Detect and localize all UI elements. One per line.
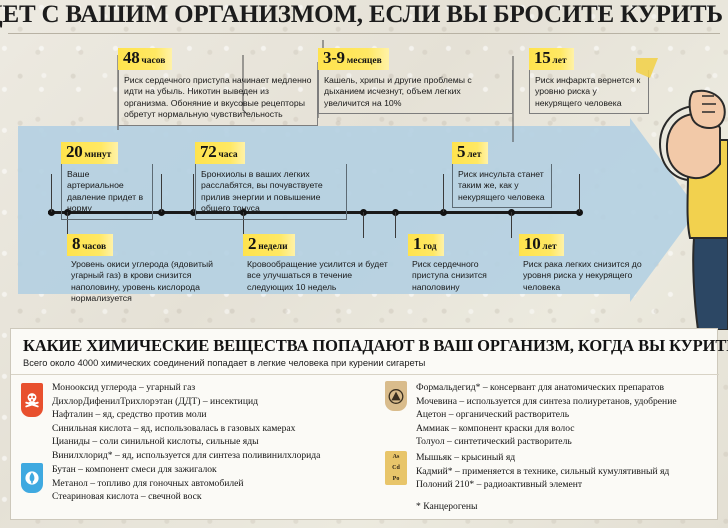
chemicals-panel: КАКИЕ ХИМИЧЕСКИЕ ВЕЩЕСТВА ПОПАДАЮТ В ВАШ… [10, 328, 718, 520]
card-badge: 15лет [529, 48, 574, 70]
card-number: 3-9 [323, 48, 345, 67]
chemical-list: Мышьяк – крысиный яд Кадмий* – применяет… [416, 451, 669, 492]
chemical-group-poison: Монооксид углерода – угарный газ ДихлорД… [21, 381, 320, 463]
timeline-connector [51, 174, 52, 212]
chemical-list: Бутан – компонент смеси для зажигалок Ме… [52, 463, 244, 504]
card-badge: 2недели [243, 234, 295, 256]
card-5-years: 5лет Риск инсульта станет таким же, как … [452, 142, 552, 208]
card-2-weeks: 2недели Кровообращение усилится и будет … [243, 234, 395, 293]
card-unit: часов [82, 242, 106, 252]
irritant-icon [385, 381, 407, 411]
timeline-connector [395, 212, 396, 238]
periodic-elements-icon: As Cd Po [385, 451, 407, 485]
chemical-list: Монооксид углерода – угарный газ ДихлорД… [52, 381, 320, 463]
card-badge: 48часов [118, 48, 172, 70]
card-text: Кашель, хрипы и другие проблемы с дыхани… [324, 72, 507, 109]
card-number: 20 [66, 142, 82, 161]
card-box: Бронхиолы в ваших легких расслабятся, вы… [195, 164, 347, 220]
timeline-connector [161, 174, 162, 212]
chemical-line: Полоний 210* – радиоактивный элемент [416, 478, 669, 492]
card-3-9-months: 3-9месяцев Кашель, хрипы и другие пробле… [318, 48, 513, 114]
element-symbol: As [393, 454, 400, 460]
chemical-line: Бутан – компонент смеси для зажигалок [52, 463, 244, 477]
card-15-years: 15лет Риск инфаркта вернется к уровню ри… [529, 48, 649, 114]
element-symbol: Po [393, 476, 400, 482]
flexing-person-illustration [636, 58, 728, 330]
chemical-line: Нафталин – яд, средство против моли [52, 408, 320, 422]
card-unit: год [423, 242, 436, 252]
card-number: 1 [413, 234, 421, 253]
panel-subtitle: Всего около 4000 химических соединений п… [23, 358, 425, 368]
card-8-hours: 8часов Уровень окиси углерода (ядовитый … [67, 234, 227, 305]
chemical-line: Толуол – синтетический растворитель [416, 435, 677, 449]
card-number: 72 [200, 142, 216, 161]
card-20-minutes: 20минут Ваше артериальное давление приде… [61, 142, 153, 220]
header-divider [8, 33, 720, 34]
card-number: 5 [457, 142, 465, 161]
card-number: 8 [72, 234, 80, 253]
card-unit: часа [218, 150, 237, 160]
card-text: Риск инфаркта вернется к уровню риска у … [535, 72, 643, 109]
card-box: Кашель, хрипы и другие проблемы с дыхани… [318, 70, 513, 114]
chemical-line: Мочевина – используется для синтеза поли… [416, 395, 677, 409]
card-text: Риск сердечного приступа начинает медлен… [124, 72, 312, 121]
card-unit: лет [542, 242, 556, 252]
chemical-group-elements: As Cd Po Мышьяк – крысиный яд Кадмий* – … [385, 451, 669, 492]
card-unit: минут [84, 150, 111, 160]
chemical-line: Винилхлорид* – яд, используется для синт… [52, 449, 320, 463]
skull-crossbones-icon [21, 383, 43, 417]
card-text: Бронхиолы в ваших легких расслабятся, вы… [201, 166, 341, 215]
card-72-hours: 72часа Бронхиолы в ваших легких расслабя… [195, 142, 347, 220]
card-unit: часов [141, 56, 165, 66]
panel-divider [11, 374, 719, 375]
card-text: Риск инсульта станет таким же, как у нек… [458, 166, 546, 203]
card-badge: 3-9месяцев [318, 48, 389, 70]
panel-title: КАКИЕ ХИМИЧЕСКИЕ ВЕЩЕСТВА ПОПАДАЮТ В ВАШ… [23, 336, 728, 356]
footnote-carcinogens: * Канцерогены [416, 501, 478, 512]
chemical-line: ДихлорДифенилТрихлорэтан (ДДТ) – инсекти… [52, 395, 320, 409]
card-badge: 8часов [67, 234, 113, 256]
timeline-connector [193, 174, 194, 212]
chemical-line: Кадмий* – применяется в технике, сильный… [416, 465, 669, 479]
card-text: Кровообращение усилится и будет все улуч… [243, 256, 395, 293]
card-unit: лет [467, 150, 481, 160]
card-unit: недели [258, 242, 287, 252]
chemical-line: Монооксид углерода – угарный газ [52, 381, 320, 395]
card-box: Ваше артериальное давление придет в норм… [61, 164, 153, 220]
chemical-line: Метанол – топливо для гоночных автомобил… [52, 477, 244, 491]
card-badge: 10лет [519, 234, 564, 256]
chemical-group-irritant: Формальдегид* – консервант для анатомиче… [385, 381, 677, 449]
card-number: 15 [534, 48, 550, 67]
card-box: Риск инсульта станет таким же, как у нек… [452, 164, 552, 208]
card-unit: месяцев [347, 56, 382, 66]
chemical-line: Ацетон – органический растворитель [416, 408, 677, 422]
card-text: Риск сердечного приступа снизится наполо… [408, 256, 512, 293]
card-text: Уровень окиси углерода (ядовитый угарный… [67, 256, 227, 305]
timeline-connector [443, 174, 444, 212]
chemical-line: Мышьяк – крысиный яд [416, 451, 669, 465]
chemical-list: Формальдегид* – консервант для анатомиче… [416, 381, 677, 449]
card-unit: лет [552, 56, 566, 66]
card-box: Риск инфаркта вернется к уровню риска у … [529, 70, 649, 114]
card-number: 10 [524, 234, 540, 253]
card-1-year: 1год Риск сердечного приступа снизится н… [408, 234, 512, 293]
card-badge: 5лет [452, 142, 488, 164]
flammable-icon [21, 463, 43, 493]
header: ЗОЙДЕТ С ВАШИМ ОРГАНИЗМОМ, ЕСЛИ ВЫ БРОСИ… [0, 0, 728, 35]
card-badge: 20минут [61, 142, 118, 164]
card-box: Риск сердечного приступа начинает медлен… [118, 70, 318, 126]
card-text: Ваше артериальное давление придет в норм… [67, 166, 147, 215]
card-48-hours: 48часов Риск сердечного приступа начинае… [118, 48, 318, 126]
card-number: 48 [123, 48, 139, 67]
chemical-line: Аммиак – компонент краски для волос [416, 422, 677, 436]
chemical-line: Формальдегид* – консервант для анатомиче… [416, 381, 677, 395]
chemical-line: Синильная кислота – яд, использовалась в… [52, 422, 320, 436]
card-badge: 1год [408, 234, 444, 256]
card-number: 2 [248, 234, 256, 253]
card-badge: 72часа [195, 142, 245, 164]
chemical-group-flammable: Бутан – компонент смеси для зажигалок Ме… [21, 463, 244, 504]
chemical-line: Стеариновая кислота – свечной воск [52, 490, 244, 504]
chemical-line: Цианиды – соли синильной кислоты, сильны… [52, 435, 320, 449]
timeline-connector [579, 174, 580, 212]
element-symbol: Cd [392, 465, 400, 471]
page-title: ЗОЙДЕТ С ВАШИМ ОРГАНИЗМОМ, ЕСЛИ ВЫ БРОСИ… [0, 1, 728, 29]
